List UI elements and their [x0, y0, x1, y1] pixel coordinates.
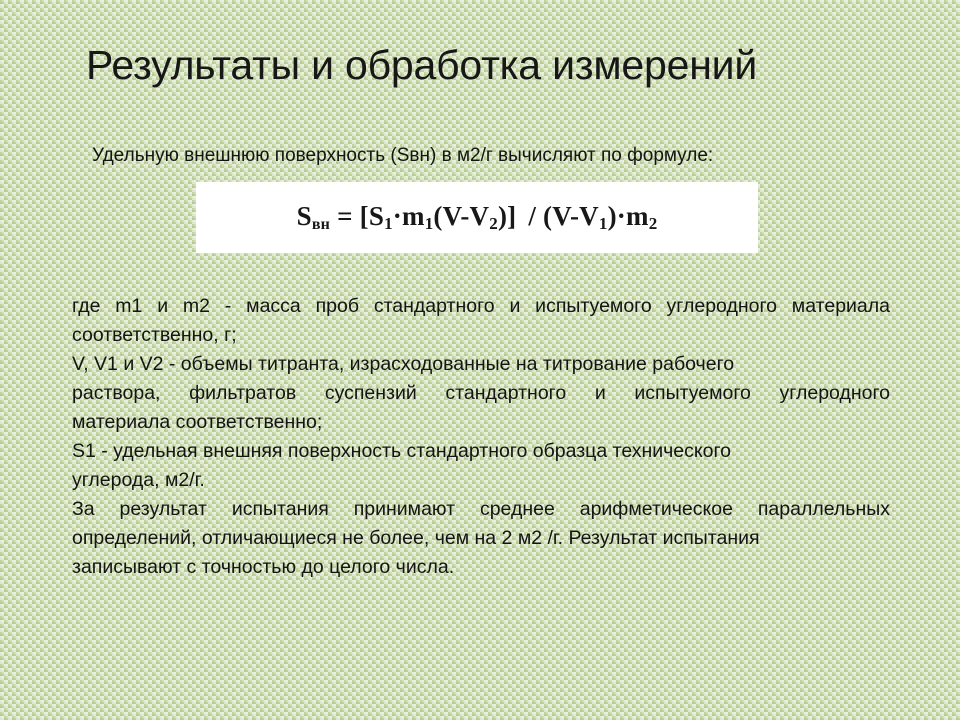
formula-dot-1: · [393, 201, 402, 231]
formula-v-2: V [552, 201, 570, 231]
formula-v2-base: V [470, 201, 490, 231]
formula-close-paren-2: ) [608, 201, 617, 231]
formula-equals: = [337, 201, 353, 231]
formula-division-slash: / [528, 201, 536, 231]
formula-image-box: Sвн=[S1·m1(V-V2)]/(V-V1)·m2 [196, 182, 758, 253]
body-line: соответственно, г; [72, 321, 890, 350]
body-line: раствора, фильтратов суспензий стандартн… [72, 379, 890, 408]
formula-open-paren-1: ( [433, 201, 442, 231]
formula-minus-1: - [460, 201, 469, 231]
formula-v-1: V [443, 201, 461, 231]
body-line: углерода, м2/г. [72, 466, 890, 495]
body-line: определений, отличающиеся не более, чем … [72, 524, 890, 553]
slide-canvas: Результаты и обработка измерений Удельну… [0, 0, 960, 720]
body-line: V, V1 и V2 - объемы титранта, израсходов… [72, 350, 890, 379]
formula-s1-subscript: 1 [384, 214, 393, 233]
formula-open-bracket: [ [360, 201, 369, 231]
formula-v2-subscript: 2 [489, 214, 498, 233]
formula-lhs-base: S [297, 201, 312, 231]
formula-v1-base: V [579, 201, 599, 231]
formula-close-bracket: ] [507, 201, 516, 231]
formula-minus-2: - [570, 201, 579, 231]
body-line: где m1 и m2 - масса проб стандартного и … [72, 292, 890, 321]
formula-s1-base: S [369, 201, 384, 231]
body-line: материала соответственно; [72, 408, 890, 437]
formula-m1-base: m [402, 201, 425, 231]
formula-close-paren-1: ) [498, 201, 507, 231]
body-line: записывают с точностью до целого числа. [72, 553, 890, 582]
formula-m2-subscript: 2 [649, 214, 658, 233]
formula-v1-subscript: 1 [599, 214, 608, 233]
body-text-block: где m1 и m2 - масса проб стандартного и … [72, 292, 890, 582]
formula-lhs-subscript: вн [312, 216, 330, 233]
formula-m2-base: m [626, 201, 649, 231]
intro-sentence: Удельную внешнюю поверхность (Sвн) в м2/… [92, 143, 852, 169]
formula-expression: Sвн=[S1·m1(V-V2)]/(V-V1)·m2 [297, 201, 658, 234]
page-title: Результаты и обработка измерений [86, 40, 886, 90]
body-line: За результат испытания принимают среднее… [72, 495, 890, 524]
body-line: S1 - удельная внешняя поверхность станда… [72, 437, 890, 466]
formula-dot-2: · [617, 201, 626, 231]
formula-open-paren-2: ( [543, 201, 552, 231]
